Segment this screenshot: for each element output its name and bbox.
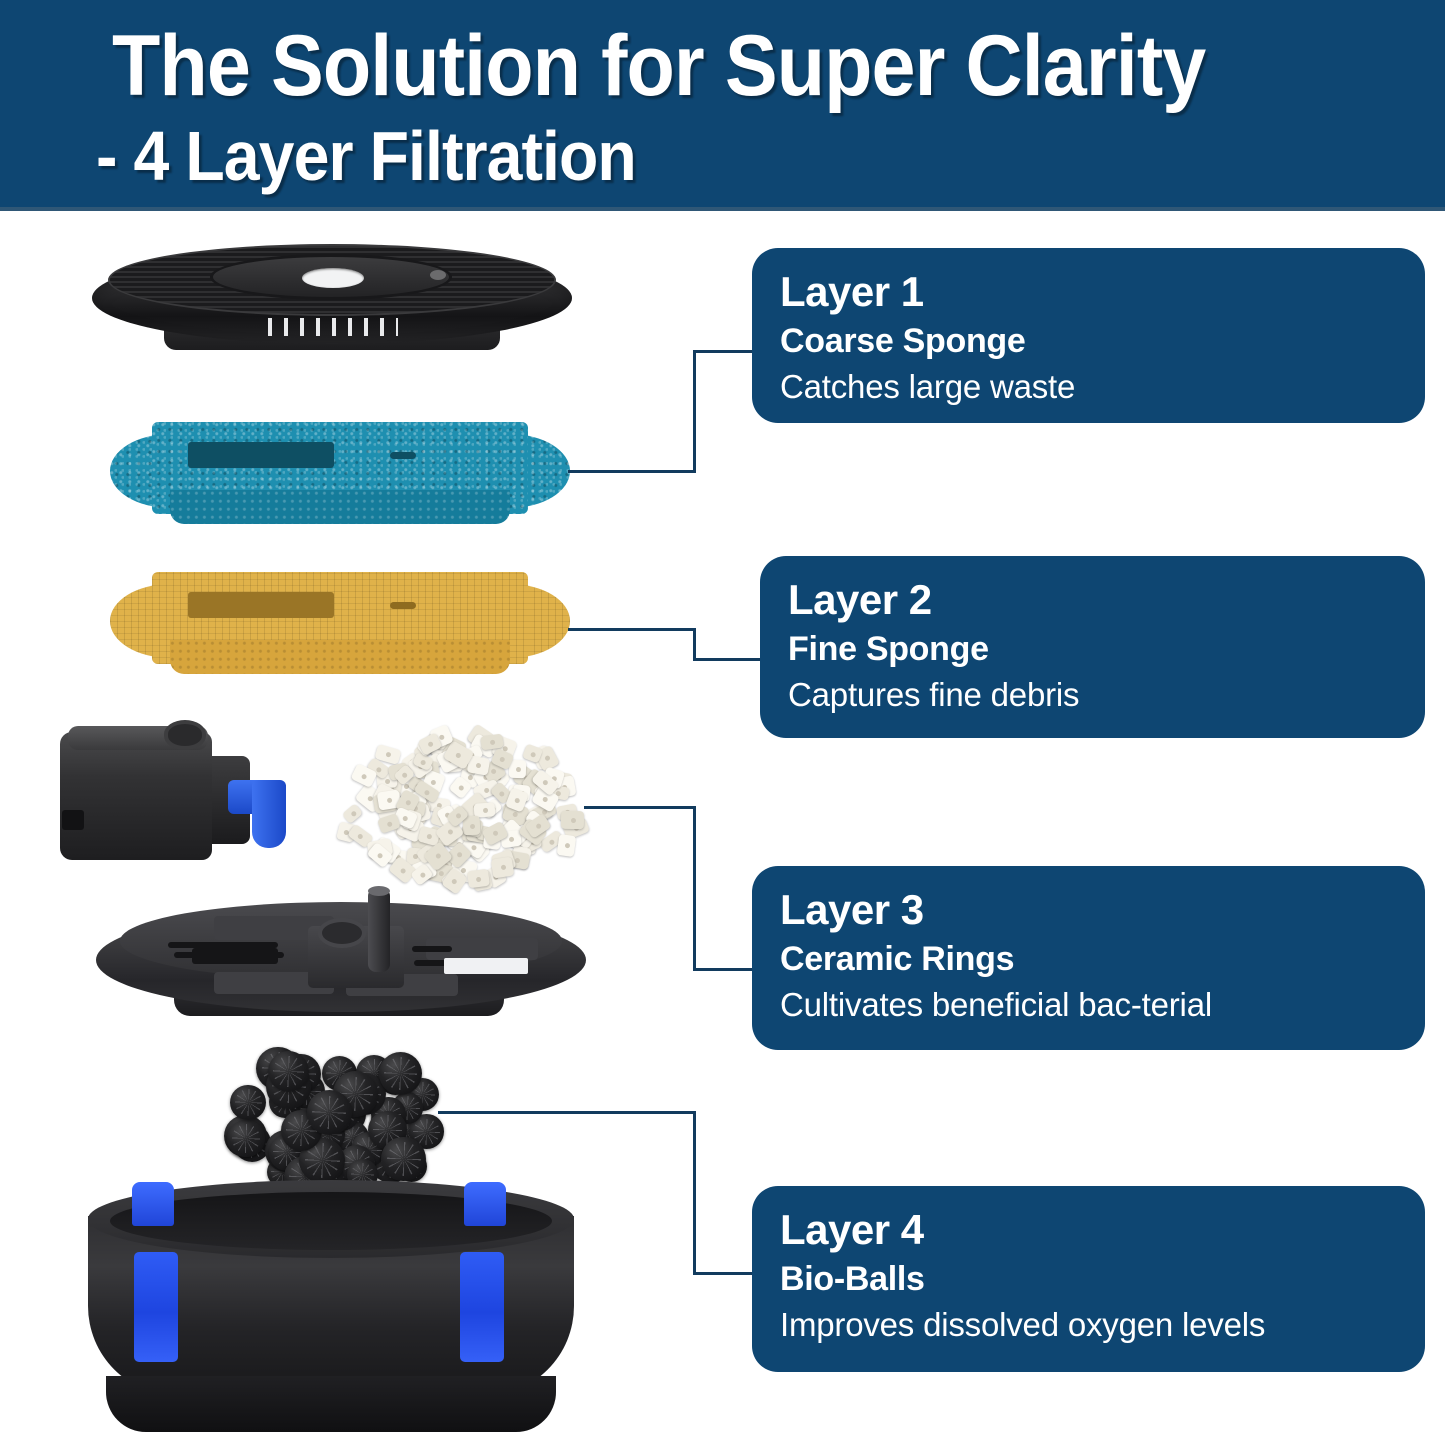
sponge-pin-hole [390, 452, 416, 459]
callout-4-media-name: Bio-Balls [780, 1256, 1425, 1302]
sponge-front-face [170, 640, 510, 674]
housing-base [106, 1376, 556, 1432]
filter-housing-graphic [88, 1180, 574, 1440]
callout-1-description: Catches large waste [780, 364, 1425, 410]
ceramic-ring [490, 856, 514, 878]
ceramic-ring [509, 760, 526, 778]
callout-3-layer-label: Layer 3 [780, 884, 1425, 936]
connector-3-segment-b [693, 806, 696, 970]
connector-1-segment-b [693, 350, 696, 472]
housing-clip-back-left [132, 1182, 174, 1226]
coarse-sponge-graphic [110, 416, 570, 532]
pump-body [60, 732, 212, 860]
bio-ball [268, 1051, 309, 1092]
callout-layer-3[interactable]: Layer 3 Ceramic Rings Cultivates benefic… [752, 866, 1425, 1050]
connector-2-segment-b [693, 628, 696, 660]
bio-ball [307, 1090, 352, 1135]
ceramic-rings-graphic [334, 722, 590, 890]
connector-3-segment-c [693, 968, 755, 971]
housing-clip-front-right [460, 1252, 504, 1362]
callout-1-media-name: Coarse Sponge [780, 318, 1425, 364]
connector-2-segment-c [693, 658, 763, 661]
ceramic-ring [342, 803, 364, 824]
bio-ball [227, 1120, 265, 1158]
plate-standpipe-opening [368, 886, 390, 896]
pump-side-tab [62, 810, 84, 830]
housing-clip-front-left [134, 1252, 178, 1362]
sponge-pin-hole [390, 602, 416, 609]
plate-standpipe [368, 888, 390, 972]
callout-2-description: Captures fine debris [788, 672, 1425, 718]
fine-sponge-graphic [110, 566, 570, 684]
connector-1-segment-a [568, 470, 696, 473]
plate-slot [412, 946, 452, 952]
sponge-front-face [170, 490, 510, 524]
lid-indicator-dot [430, 270, 446, 280]
ceramic-ring [557, 834, 577, 857]
plate-white-slot [444, 958, 528, 974]
infographic-page: The Solution for Super Clarity - 4 Layer… [0, 0, 1445, 1445]
callout-3-description: Cultivates beneficial bac-terial [780, 982, 1425, 1028]
pump-inlet-port [164, 720, 206, 750]
callout-4-layer-label: Layer 4 [780, 1204, 1425, 1256]
ceramic-ring [463, 816, 481, 836]
connector-1-segment-c [693, 350, 755, 353]
connector-2-segment-a [568, 628, 696, 631]
page-title-line2: - 4 Layer Filtration [96, 118, 1292, 194]
filter-lid-graphic [92, 238, 572, 358]
callout-layer-2[interactable]: Layer 2 Fine Sponge Captures fine debris [760, 556, 1425, 738]
callout-layer-4[interactable]: Layer 4 Bio-Balls Improves dissolved oxy… [752, 1186, 1425, 1372]
bio-balls-graphic [226, 1032, 456, 1192]
sponge-slot-cutout [188, 592, 334, 618]
connector-4-segment-b [693, 1111, 696, 1275]
sponge-slot-cutout [188, 442, 334, 468]
bio-ball [381, 1137, 425, 1181]
callout-3-media-name: Ceramic Rings [780, 936, 1425, 982]
connector-4-segment-c [693, 1272, 755, 1275]
callout-layer-1[interactable]: Layer 1 Coarse Sponge Catches large wast… [752, 248, 1425, 423]
page-title-line1: The Solution for Super Clarity [112, 20, 1308, 112]
plate-slot [192, 948, 278, 964]
water-pump-graphic [60, 718, 290, 868]
connector-3-segment-a [584, 806, 696, 809]
callout-4-description: Improves dissolved oxygen levels [780, 1302, 1425, 1348]
ceramic-ring [561, 811, 584, 829]
callout-2-layer-label: Layer 2 [788, 574, 1425, 626]
callout-2-media-name: Fine Sponge [788, 626, 1425, 672]
divider-plate-graphic [96, 886, 586, 1036]
connector-4-segment-a [438, 1111, 696, 1114]
lid-center-hole [302, 268, 364, 288]
lid-vent-slots [268, 318, 398, 336]
housing-clip-back-right [464, 1182, 506, 1226]
callout-1-layer-label: Layer 1 [780, 266, 1425, 318]
header-underline [0, 207, 1445, 211]
plate-boss-collar [318, 918, 366, 948]
bio-ball [230, 1085, 265, 1120]
pump-outlet-elbow-vertical [252, 780, 286, 848]
